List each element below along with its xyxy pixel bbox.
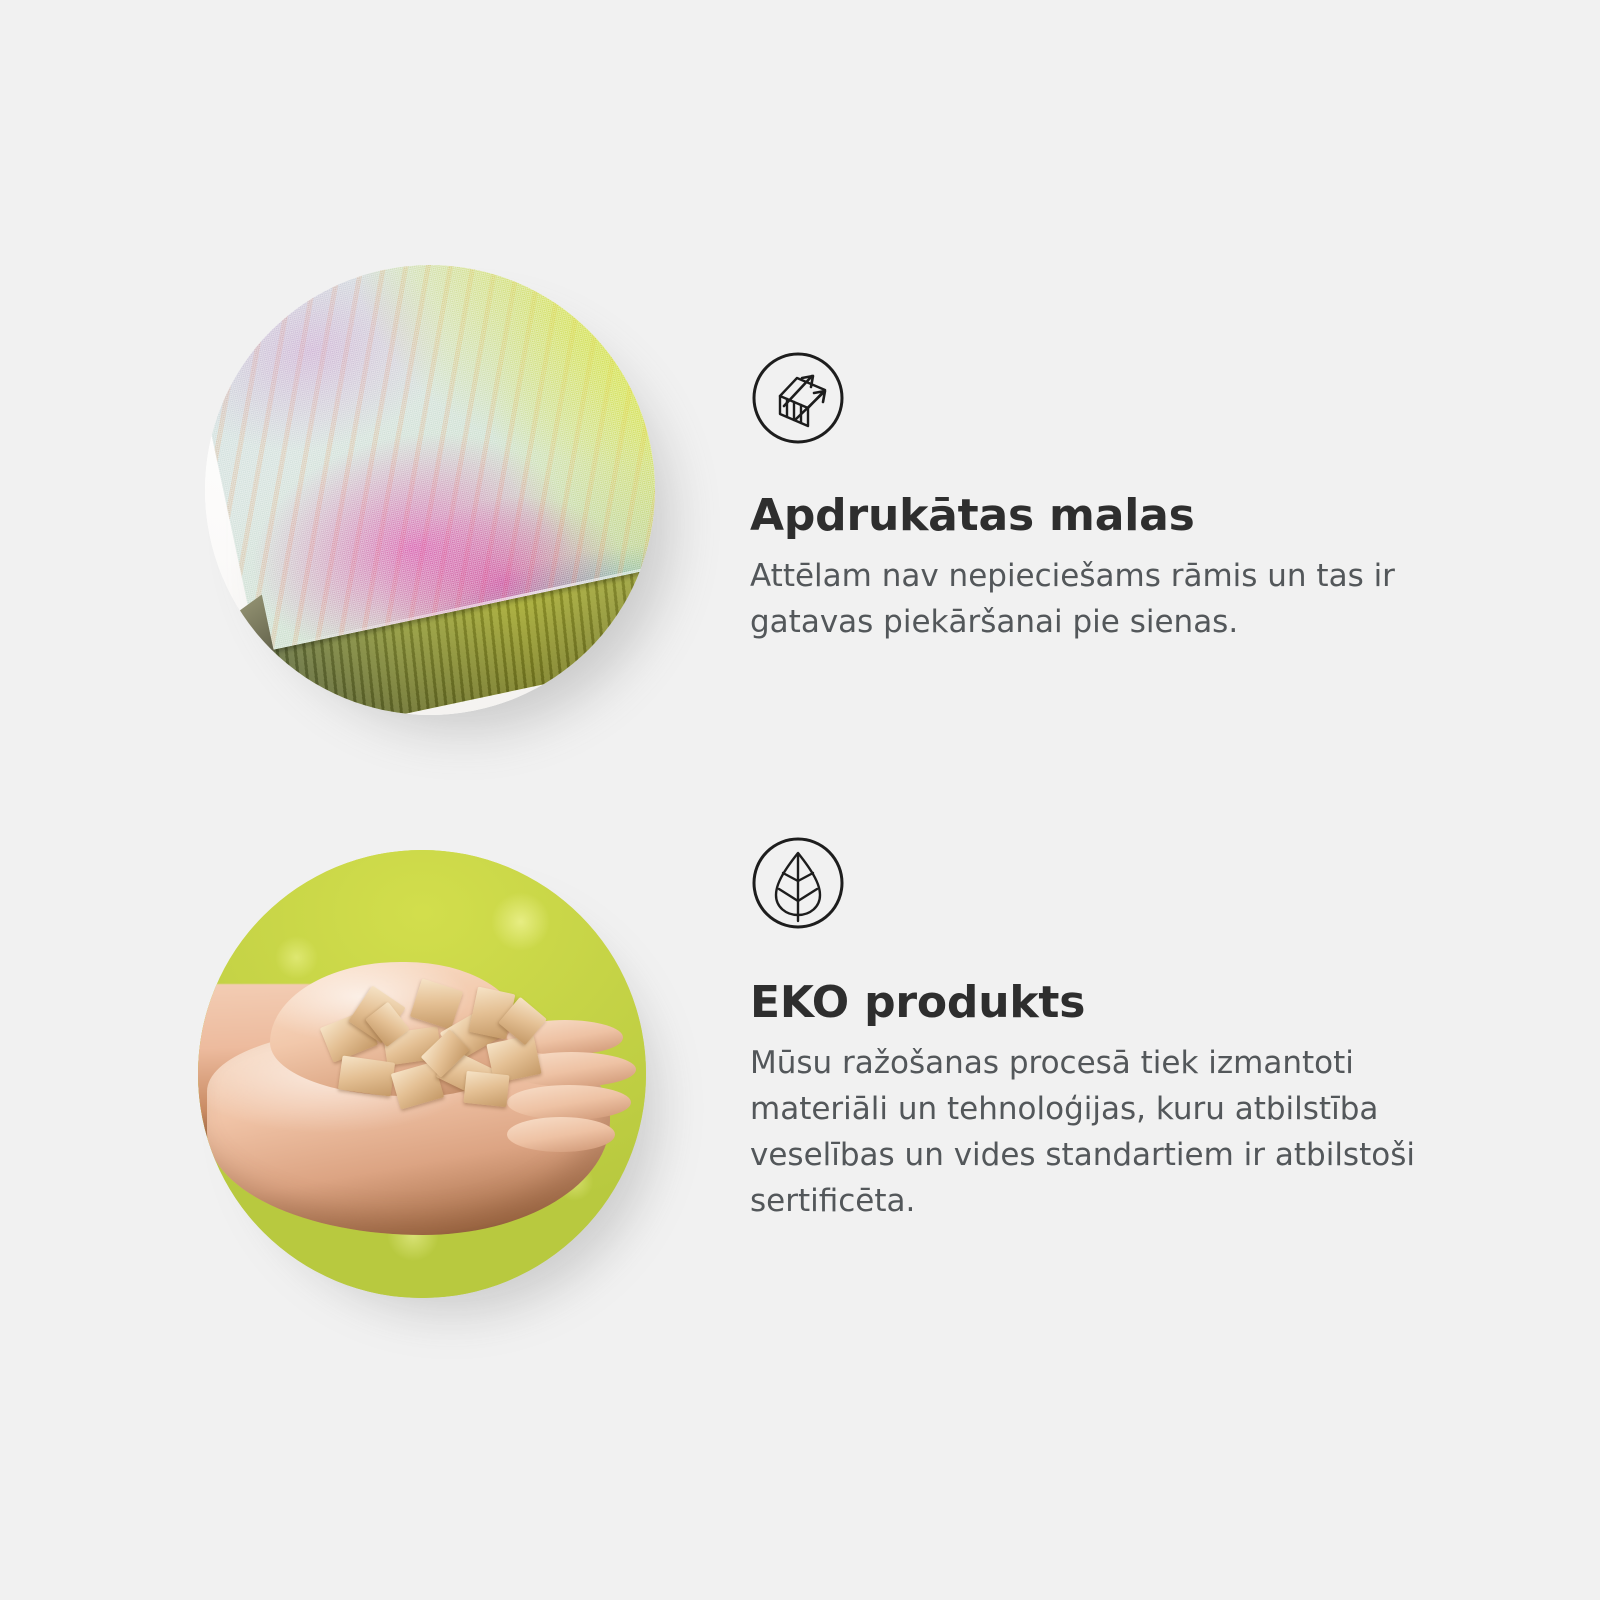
wood-chips: [314, 975, 565, 1118]
feature-title: Apdrukātas malas: [750, 492, 1490, 540]
printed-edges-icon: [750, 350, 846, 446]
feature-title: EKO produkts: [750, 979, 1490, 1027]
feature-text-eko-product: EKO produkts Mūsu ražošanas procesā tiek…: [750, 835, 1490, 1225]
feature-text-printed-edges: Apdrukātas malas Attēlam nav nepieciešam…: [750, 350, 1490, 646]
canvas-print: [205, 265, 655, 715]
feature-block-eko-product: EKO produkts Mūsu ražošanas procesā tiek…: [0, 830, 1600, 1360]
feature-highlights-page: Apdrukātas malas Attēlam nav nepieciešam…: [0, 0, 1600, 1600]
leaf-icon: [750, 835, 846, 931]
canvas-corner-photo: [205, 265, 655, 715]
wood-chips-in-hands-photo: [198, 850, 646, 1298]
feature-description: Attēlam nav nepieciešams rāmis un tas ir…: [750, 554, 1466, 646]
feature-block-printed-edges: Apdrukātas malas Attēlam nav nepieciešam…: [0, 240, 1600, 760]
feature-description: Mūsu ražošanas procesā tiek izmantoti ma…: [750, 1041, 1466, 1225]
